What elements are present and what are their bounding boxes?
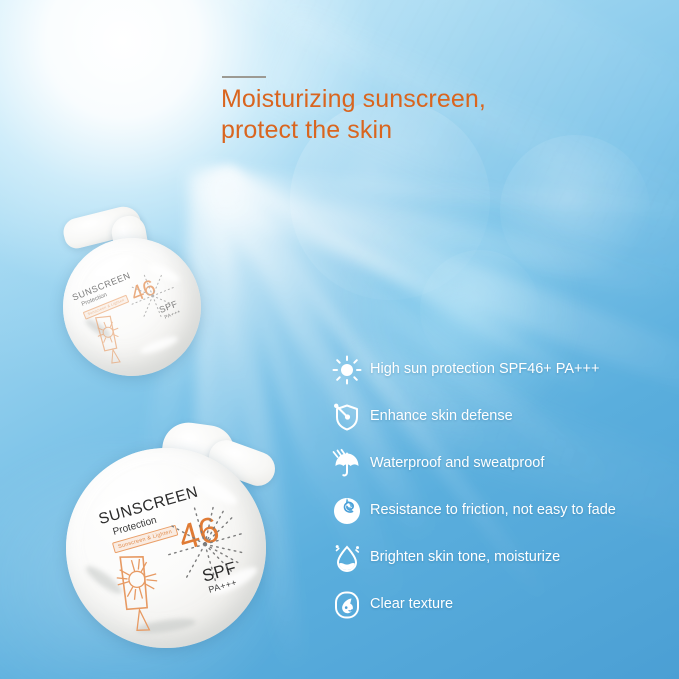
feature-row-friction-resistance: Resistance to friction, not easy to fade [330, 487, 670, 534]
title-line-2: protect the skin [221, 115, 651, 146]
sun-ray [224, 170, 679, 303]
droplet-icon [330, 541, 364, 575]
feature-list: High sun protection SPF46+ PA+++ Enhance… [330, 346, 670, 628]
face-icon [330, 588, 364, 622]
decor-band-2 [256, 10, 679, 320]
feature-label: Enhance skin defense [370, 408, 513, 425]
feature-row-high-sun-protection: High sun protection SPF46+ PA+++ [330, 346, 670, 393]
sunscreen-sachet-large: SUNSCREEN Protection Sunscreen & Lighten… [62, 424, 312, 656]
feature-row-enhance-skin-defense: Enhance skin defense [330, 393, 670, 440]
feature-label: Resistance to friction, not easy to fade [370, 502, 616, 519]
sunscreen-sachet-small: SUNSCREEN Protection Sunscreen & Lighten… [55, 212, 225, 377]
page-title: Moisturizing sunscreen, protect the skin [221, 84, 651, 146]
feature-row-clear-texture: Clear texture [330, 581, 670, 628]
feature-label: High sun protection SPF46+ PA+++ [370, 361, 599, 378]
umbrella-icon [330, 447, 364, 481]
feature-label: Clear texture [370, 596, 453, 613]
feature-row-waterproof: Waterproof and sweatproof [330, 440, 670, 487]
swirl-icon [330, 494, 364, 528]
feature-label: Brighten skin tone, moisturize [370, 549, 560, 566]
sun-ray [229, 170, 679, 220]
title-line-1: Moisturizing sunscreen, [221, 85, 486, 113]
title-accent-dash [222, 76, 266, 78]
decor-circle-2 [500, 135, 650, 285]
feature-row-brighten-skin-tone: Brighten skin tone, moisturize [330, 534, 670, 581]
feature-label: Waterproof and sweatproof [370, 455, 544, 472]
sun-icon [330, 353, 364, 387]
shield-icon [330, 400, 364, 434]
sunscreen-product-poster: Moisturizing sunscreen, protect the skin… [0, 0, 679, 679]
